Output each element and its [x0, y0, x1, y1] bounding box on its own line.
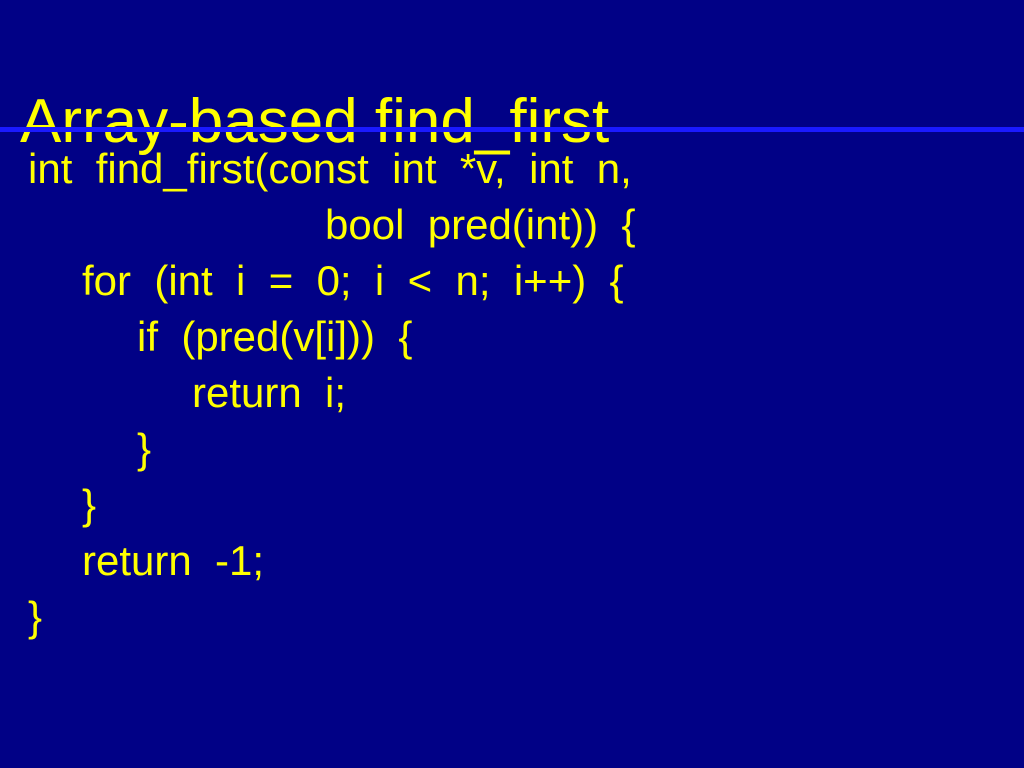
code-text: } [28, 593, 42, 640]
code-text: int find_first(const int *v, int n, [28, 145, 632, 192]
code-text: bool pred(int)) { [325, 201, 636, 248]
code-text: if (pred(v[i])) { [137, 313, 412, 360]
code-line: } [0, 589, 1024, 645]
title-divider-rule [0, 127, 1024, 132]
code-line: return i; [0, 365, 1024, 421]
code-line: } [0, 477, 1024, 533]
code-text: for (int i = 0; i < n; i++) { [82, 257, 624, 304]
code-text: } [137, 425, 151, 472]
code-line: return -1; [0, 533, 1024, 589]
slide-canvas: Array-based find_first int find_first(co… [0, 0, 1024, 768]
code-line: for (int i = 0; i < n; i++) { [0, 253, 1024, 309]
code-line: int find_first(const int *v, int n, [0, 141, 1024, 197]
code-line: if (pred(v[i])) { [0, 309, 1024, 365]
code-text: } [82, 481, 96, 528]
code-line: } [0, 421, 1024, 477]
code-block: int find_first(const int *v, int n,bool … [0, 141, 1024, 701]
code-line: bool pred(int)) { [0, 197, 1024, 253]
code-text: return i; [192, 369, 346, 416]
code-text: return -1; [82, 537, 264, 584]
